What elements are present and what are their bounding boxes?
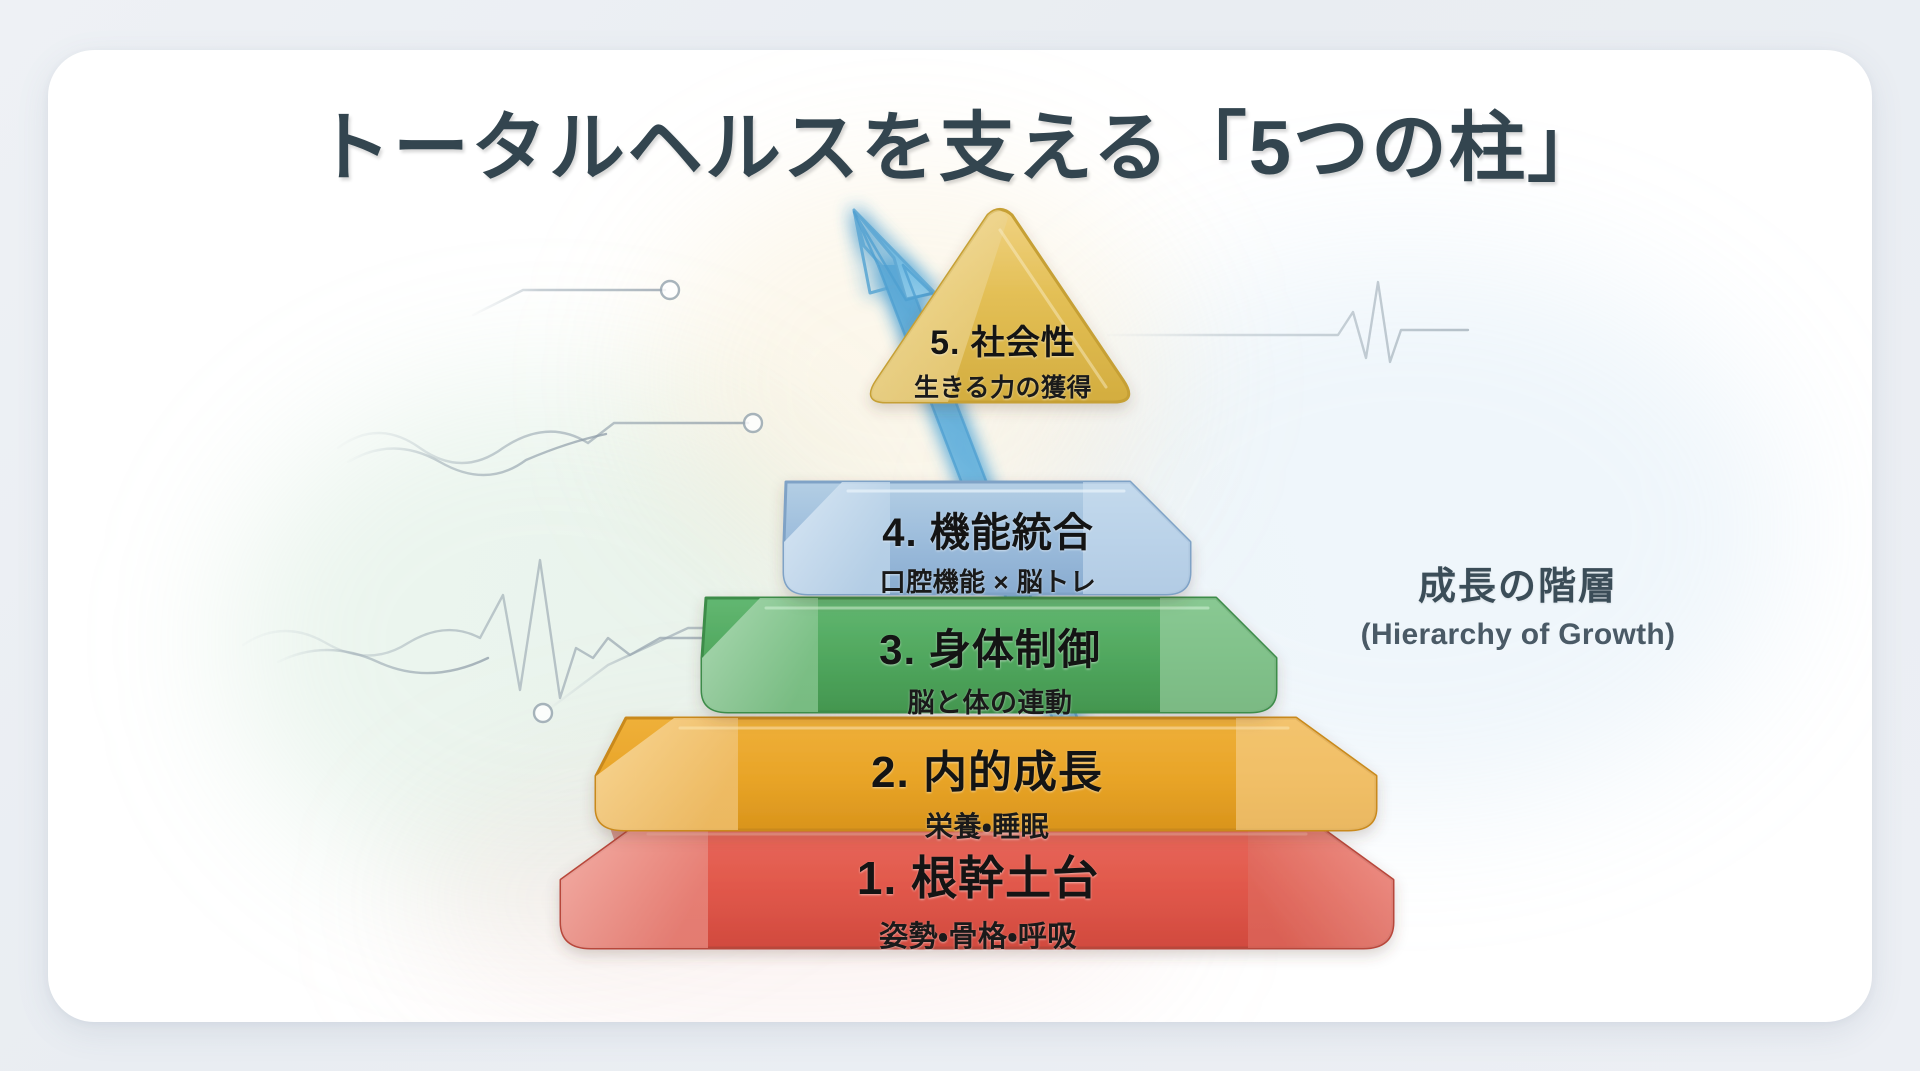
wave-line-left-mid: [338, 423, 748, 475]
side-caption-en: (Hierarchy of Growth): [1348, 618, 1688, 652]
side-caption-jp: 成長の階層: [1348, 555, 1688, 610]
pyramid-level-3[interactable]: [702, 598, 1276, 712]
pyramid-level-3-label[interactable]: 3. 身体制御 脳と体の連動: [702, 616, 1278, 720]
pyramid-level-2-label[interactable]: 2. 内的成長 栄養・睡眠: [596, 736, 1378, 845]
background-wash-green: [228, 380, 868, 900]
pyramid-level-5-subtitle: 生きる力の獲得: [878, 368, 1128, 404]
pyramid-level-4-title: 4. 機能統合: [784, 500, 1192, 558]
ecg-line-left-lower: [243, 560, 778, 710]
pyramid-level-3-title: 3. 身体制御: [702, 616, 1278, 677]
pyramid-level-2-title: 2. 内的成長: [596, 736, 1378, 800]
page-title: トータルヘルスを支える「5つの柱」: [48, 86, 1872, 196]
pyramid-level-3-subtitle: 脳と体の連動: [702, 681, 1278, 720]
pyramid-level-4[interactable]: [784, 482, 1190, 594]
pyramid-level-5[interactable]: [871, 210, 1129, 403]
node-dot-mid: [744, 414, 762, 432]
side-caption: 成長の階層 (Hierarchy of Growth): [1348, 555, 1688, 652]
connector-line-top-left: [473, 275, 688, 315]
slide-stage: トータルヘルスを支える「5つの柱」: [0, 0, 1920, 1071]
growth-arrow: [854, 210, 1103, 785]
node-dot-top: [661, 281, 679, 299]
pyramid-level-1-label[interactable]: 1. 根幹土台 姿勢・骨格・呼吸: [561, 842, 1395, 955]
node-dot-lower: [769, 619, 787, 637]
pyramid-level-1-subtitle: 姿勢・骨格・呼吸: [561, 913, 1395, 955]
pyramid-level-2-subtitle: 栄養・睡眠: [596, 805, 1378, 845]
background-wash-rose: [408, 750, 1168, 1022]
pyramid-level-5-label[interactable]: 5. 社会性 生きる力の獲得: [878, 315, 1128, 404]
node-dot-bottom: [534, 704, 552, 722]
pyramid-level-1-title: 1. 根幹土台: [561, 842, 1395, 908]
pyramid-level-5-title: 5. 社会性: [878, 315, 1128, 364]
background-wash-gold: [648, 170, 1168, 590]
content-card: トータルヘルスを支える「5つの柱」: [48, 50, 1872, 1022]
ecg-line-right: [1108, 282, 1468, 362]
pyramid-level-1[interactable]: [561, 822, 1393, 948]
background-wash-blue: [1028, 250, 1788, 810]
pyramid-level-4-subtitle: 口腔機能 × 脳トレ: [784, 562, 1192, 599]
pyramid-level-2[interactable]: [596, 718, 1376, 830]
pyramid-level-4-label[interactable]: 4. 機能統合 口腔機能 × 脳トレ: [784, 500, 1192, 599]
